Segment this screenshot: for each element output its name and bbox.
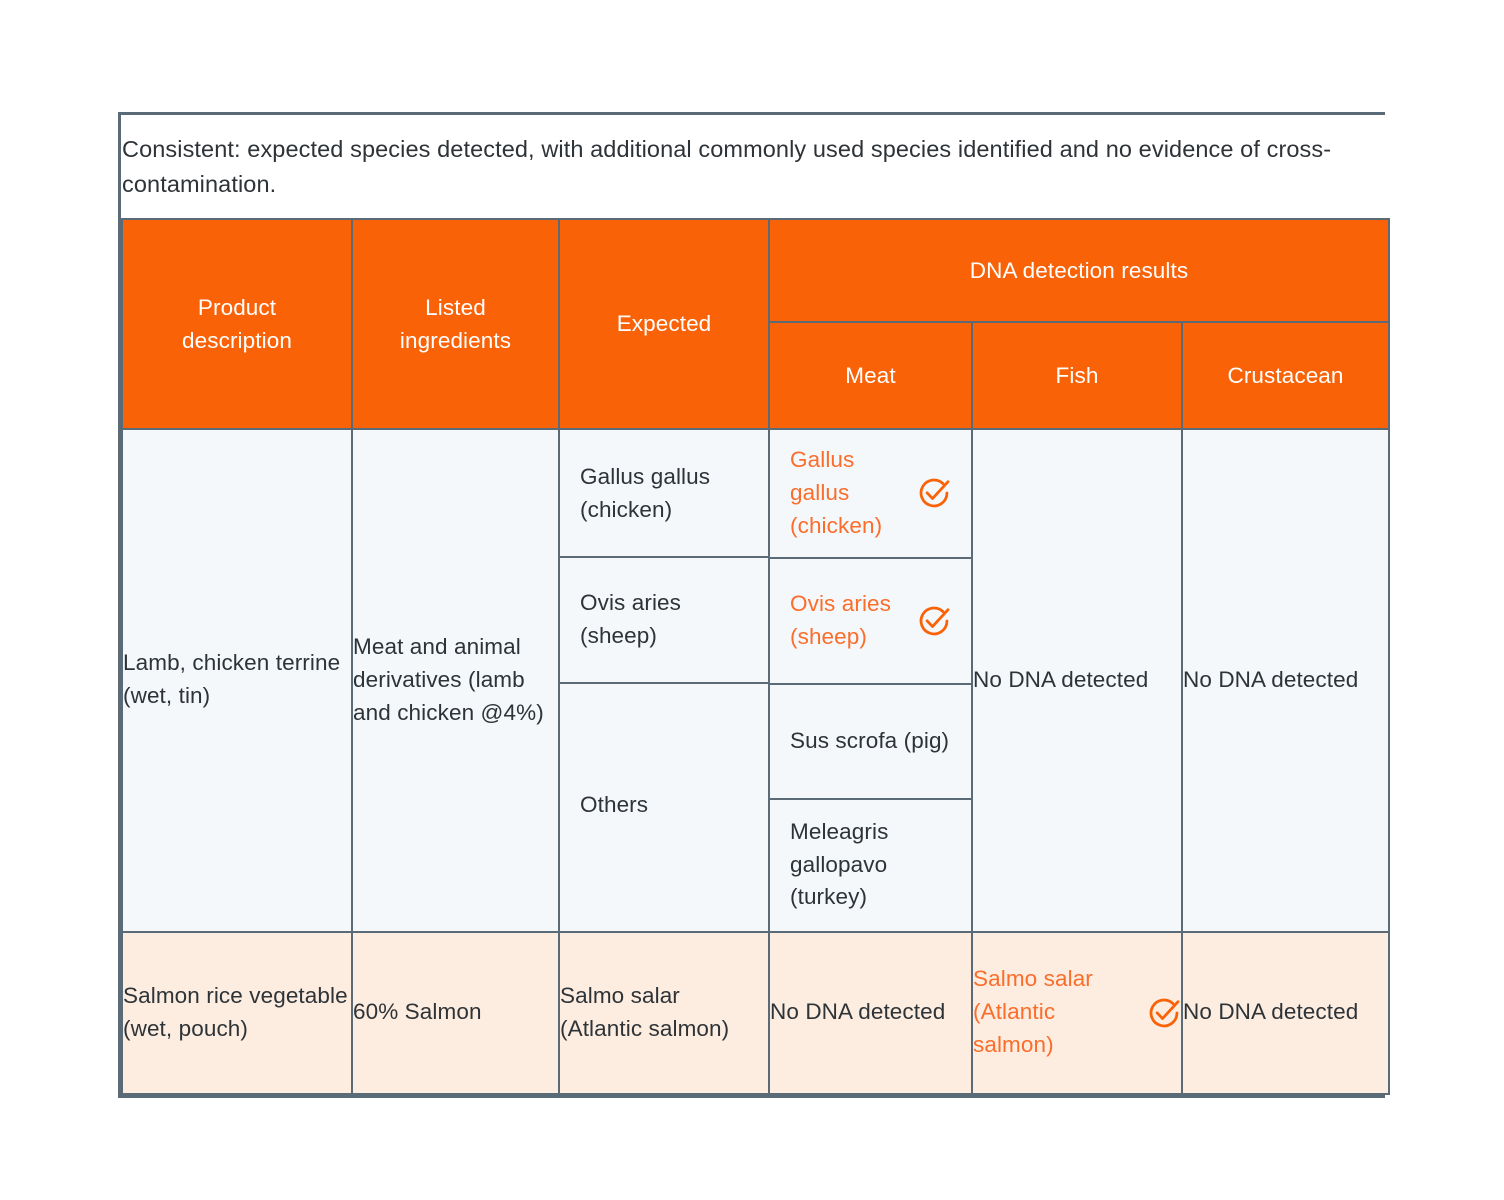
row1-listed-ingredients: Meat and animal derivatives (lamb and ch… xyxy=(352,429,559,932)
row2-expected: Salmo salar (Atlantic salmon) xyxy=(559,932,769,1094)
header-listed-ingredients-line1: Listed xyxy=(361,291,550,324)
caption-cell: Consistent: expected species detected, w… xyxy=(122,115,1389,219)
row1-expected-subrow-2: Ovis aries (sheep) xyxy=(560,557,768,683)
header-meat-label: Meat xyxy=(770,355,971,396)
row1-expected-subrow-3: Others xyxy=(560,683,768,928)
row1-product-description: Lamb, chicken terrine (wet, tin) xyxy=(122,429,352,932)
caption-row: Consistent: expected species detected, w… xyxy=(122,115,1389,219)
header-product-description-line2: description xyxy=(131,324,343,357)
row1-meat-subrow-4: Meleagris gallopavo (turkey) xyxy=(770,799,971,931)
table-row: Lamb, chicken terrine (wet, tin) Meat an… xyxy=(122,429,1389,932)
dna-results-table: Consistent: expected species detected, w… xyxy=(121,115,1390,1095)
header-expected: Expected xyxy=(559,219,769,429)
row1-meat-subrow-3: Sus scrofa (pig) xyxy=(770,684,971,799)
header-dna-detection-results: DNA detection results xyxy=(769,219,1389,322)
row2-fish: Salmo salar (Atlantic salmon) xyxy=(972,932,1182,1094)
header-row-primary: Product description Listed ingredients E… xyxy=(122,219,1389,322)
row1-expected-group: Gallus gallus (chicken) Ovis aries (shee… xyxy=(559,429,769,932)
row1-meat-item-1: Gallus gallus (chicken) xyxy=(790,444,951,543)
header-product-description-line1: Product xyxy=(131,291,343,324)
row1-expected-item-3: Others xyxy=(560,775,768,836)
row1-crustacean: No DNA detected xyxy=(1182,429,1389,932)
row1-meat-item-4: Meleagris gallopavo (turkey) xyxy=(770,802,971,929)
check-circle-icon xyxy=(917,604,951,638)
caption-text: Consistent: expected species detected, w… xyxy=(122,132,1389,200)
row1-meat-item-2-label: Ovis aries (sheep) xyxy=(790,588,907,654)
row2-listed-ingredients: 60% Salmon xyxy=(352,932,559,1094)
header-meat: Meat xyxy=(769,322,972,429)
row1-meat-subrow-2: Ovis aries (sheep) xyxy=(770,558,971,684)
row1-meat-item-2: Ovis aries (sheep) xyxy=(790,588,951,654)
header-expected-label: Expected xyxy=(560,303,768,344)
row1-expected-subrow-1: Gallus gallus (chicken) xyxy=(560,433,768,557)
header-listed-ingredients: Listed ingredients xyxy=(352,219,559,429)
row1-meat-subtable: Gallus gallus (chicken) xyxy=(770,430,971,931)
row1-meat-item-1-label: Gallus gallus (chicken) xyxy=(790,444,907,543)
row1-meat-subrow-1: Gallus gallus (chicken) xyxy=(770,430,971,558)
check-circle-icon xyxy=(1147,996,1181,1030)
header-crustacean: Crustacean xyxy=(1182,322,1389,429)
table-row: Salmon rice vegetable (wet, pouch) 60% S… xyxy=(122,932,1389,1094)
row1-meat-item-3: Sus scrofa (pig) xyxy=(770,711,971,772)
row2-crustacean: No DNA detected xyxy=(1182,932,1389,1094)
dna-results-table-container: Consistent: expected species detected, w… xyxy=(118,112,1385,1098)
header-listed-ingredients-line2: ingredients xyxy=(361,324,550,357)
header-fish: Fish xyxy=(972,322,1182,429)
row2-fish-label: Salmo salar (Atlantic salmon) xyxy=(973,963,1137,1062)
page-root: Consistent: expected species detected, w… xyxy=(0,0,1504,1200)
row1-expected-item-1: Gallus gallus (chicken) xyxy=(560,447,768,541)
row1-meat-group: Gallus gallus (chicken) xyxy=(769,429,972,932)
check-circle-icon xyxy=(917,476,951,510)
row1-expected-subtable: Gallus gallus (chicken) Ovis aries (shee… xyxy=(560,433,768,928)
header-dna-detection-results-label: DNA detection results xyxy=(770,250,1388,291)
header-product-description: Product description xyxy=(122,219,352,429)
row1-fish: No DNA detected xyxy=(972,429,1182,932)
row2-meat: No DNA detected xyxy=(769,932,972,1094)
header-crustacean-label: Crustacean xyxy=(1183,355,1388,396)
row1-expected-item-2: Ovis aries (sheep) xyxy=(560,573,768,667)
row2-product-description: Salmon rice vegetable (wet, pouch) xyxy=(122,932,352,1094)
header-fish-label: Fish xyxy=(973,355,1181,396)
